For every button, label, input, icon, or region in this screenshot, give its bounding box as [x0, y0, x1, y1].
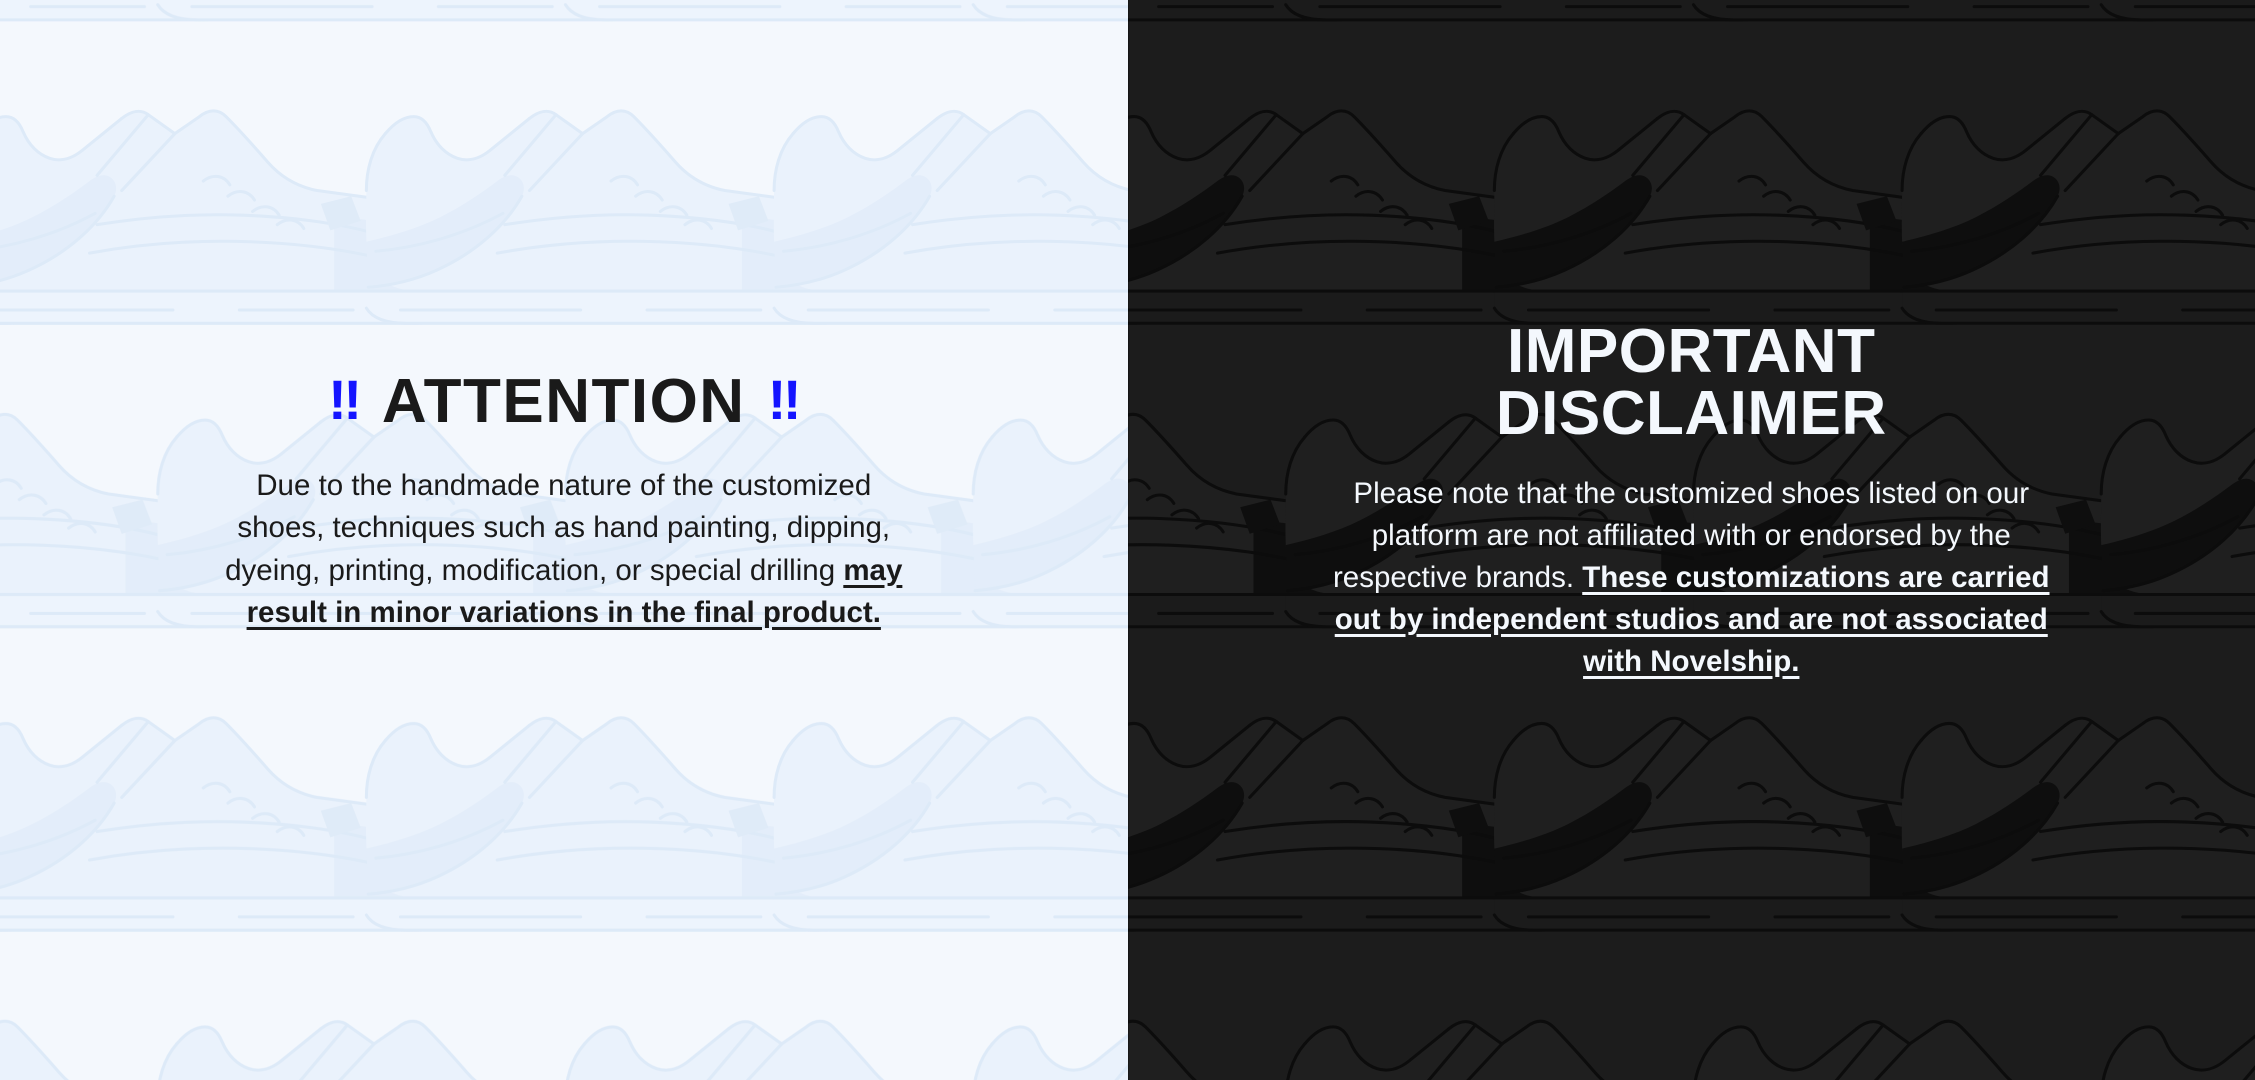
double-exclamation-right-icon: ‼ [768, 372, 800, 428]
attention-heading-text: ATTENTION [382, 370, 746, 433]
disclaimer-panel: IMPORTANT DISCLAIMER Please note that th… [1128, 0, 2255, 1080]
disclaimer-heading: IMPORTANT DISCLAIMER [1496, 321, 1887, 445]
attention-panel: ‼ ATTENTION ‼ Due to the handmade nature… [0, 0, 1128, 1080]
double-exclamation-left-icon: ‼ [328, 372, 360, 428]
disclaimer-body: Please note that the customized shoes li… [1321, 473, 2061, 684]
attention-body-normal: Due to the handmade nature of the custom… [225, 469, 890, 586]
disclaimer-banner: ‼ ATTENTION ‼ Due to the handmade nature… [0, 0, 2255, 1080]
attention-heading: ‼ ATTENTION ‼ [328, 370, 799, 433]
disclaimer-heading-line-2: DISCLAIMER [1496, 379, 1887, 448]
disclaimer-content: IMPORTANT DISCLAIMER Please note that th… [1128, 321, 2255, 684]
attention-body: Due to the handmade nature of the custom… [214, 465, 914, 634]
disclaimer-heading-line-1: IMPORTANT [1507, 317, 1875, 386]
panel-divider [1128, 0, 1129, 1080]
attention-content: ‼ ATTENTION ‼ Due to the handmade nature… [0, 370, 1128, 634]
